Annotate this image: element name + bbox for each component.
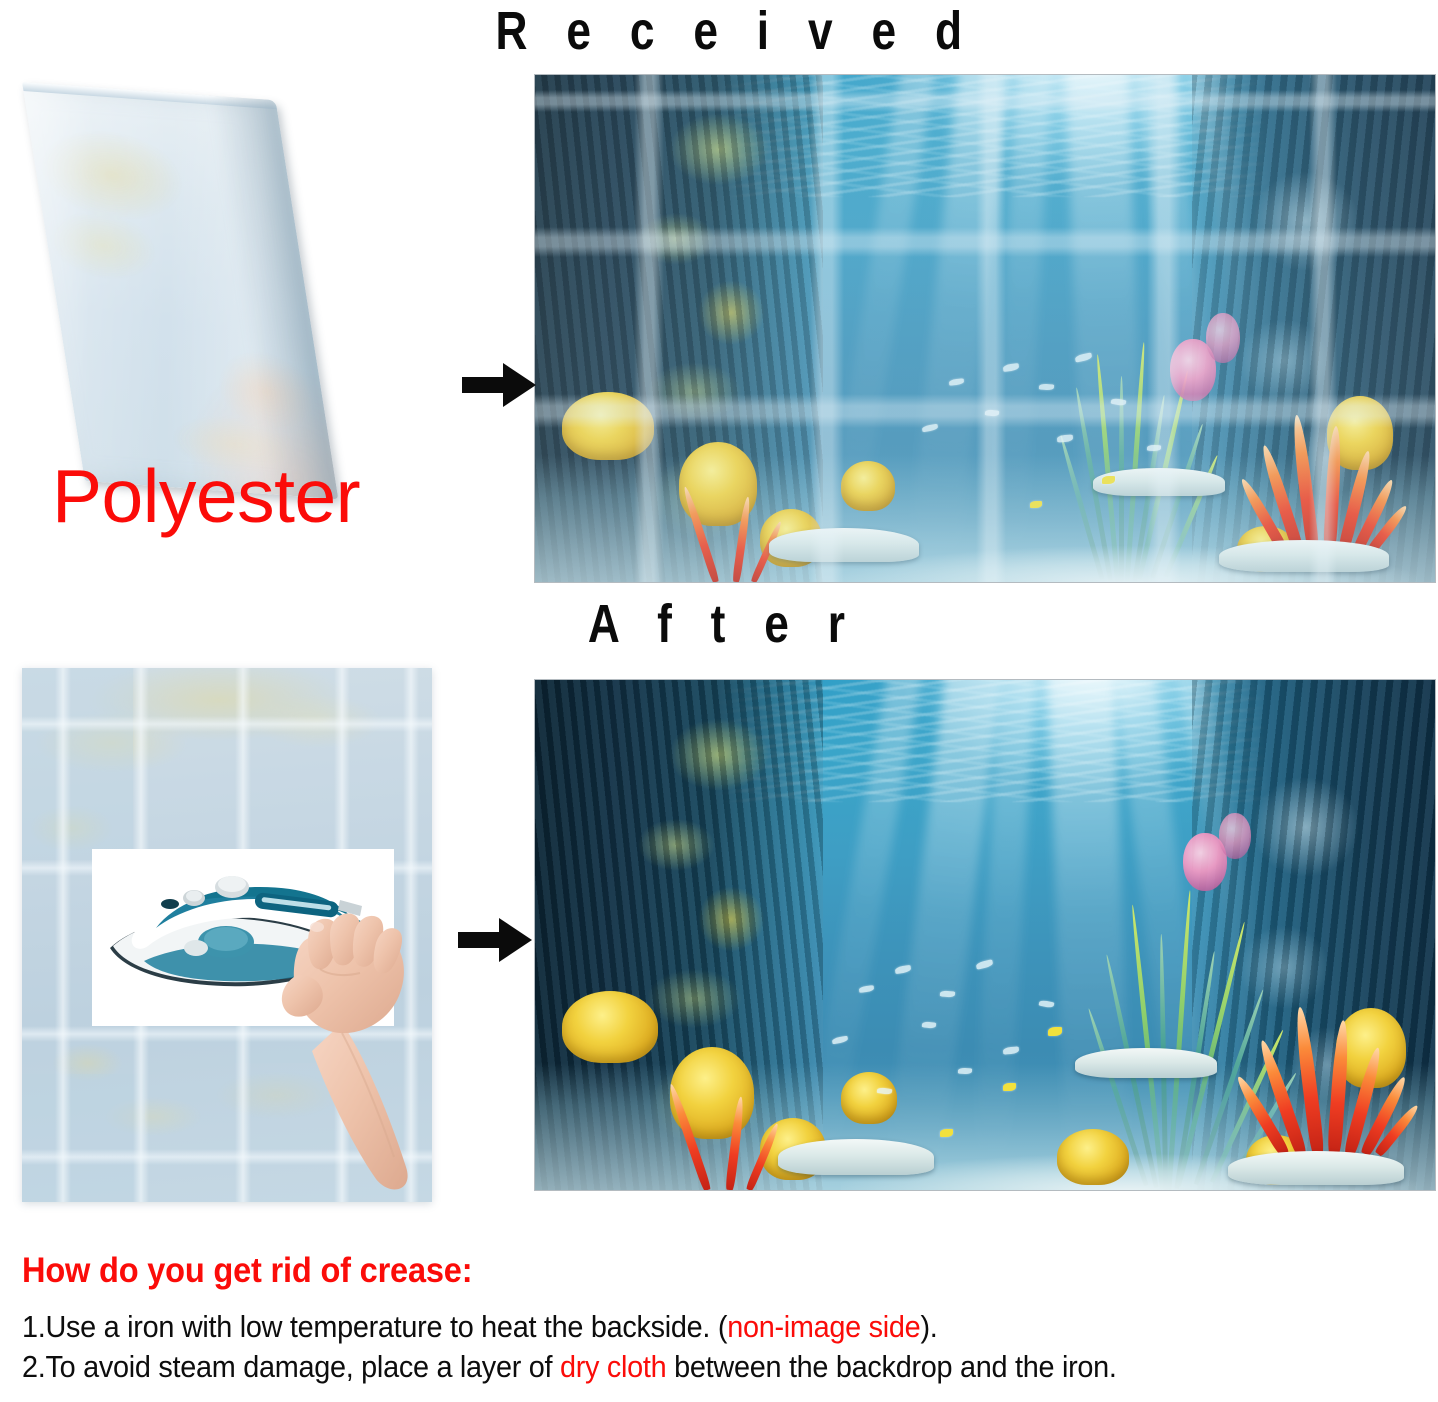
rock-shelf (1075, 1048, 1217, 1078)
red-branching-coral (706, 472, 776, 582)
product-instruction-infographic: R e c e i v e d Polyester (0, 0, 1438, 1402)
fish (922, 1021, 937, 1028)
instruction-1-text-a: 1.Use a iron with low temperature to hea… (22, 1309, 727, 1344)
fish (958, 1067, 972, 1074)
fabric-sheet (22, 82, 338, 499)
fish (985, 409, 1000, 416)
fish-yellow (1102, 476, 1115, 484)
right-arrow-icon (458, 915, 532, 965)
instruction-1-text-b: ). (920, 1309, 937, 1344)
yellow-coral-bush (562, 392, 654, 460)
polyester-label: Polyester (52, 459, 360, 534)
yellow-coral-bush (562, 991, 658, 1063)
rock-shelf (1219, 540, 1389, 572)
yellow-coral-bush (1057, 1129, 1129, 1185)
pink-coral (1219, 813, 1251, 859)
fish-yellow (1003, 1083, 1016, 1091)
section-title-after: A f t e r (129, 597, 1308, 651)
folded-fabric-image (8, 82, 438, 502)
red-branching-coral (697, 1070, 773, 1190)
yellow-coral-bush (841, 461, 895, 511)
instruction-2-text-a: 2.To avoid steam damage, place a layer o… (22, 1349, 560, 1384)
red-branching-coral (1273, 1004, 1389, 1154)
fish-yellow (940, 1129, 953, 1137)
rock-shelf (1228, 1151, 1404, 1185)
instruction-1-highlight: non-image side (727, 1309, 920, 1344)
instruction-line-1: 1.Use a iron with low temperature to hea… (22, 1307, 1324, 1347)
fish-yellow (1048, 1027, 1062, 1036)
rock-shelf (769, 528, 919, 562)
fish-yellow (1030, 501, 1042, 508)
hand-icon (268, 905, 448, 1195)
backdrop-image-after (535, 680, 1435, 1190)
right-arrow-icon (462, 360, 536, 410)
instruction-2-highlight: dry cloth (560, 1349, 666, 1384)
pink-coral (1206, 313, 1240, 363)
section-title-received: R e c e i v e d (129, 4, 1308, 58)
instructions-block: How do you get rid of crease: 1.Use a ir… (22, 1251, 1422, 1388)
yellow-coral-bush (841, 1072, 897, 1124)
rock-shelf (778, 1139, 934, 1175)
instruction-line-2: 2.To avoid steam damage, place a layer o… (22, 1347, 1324, 1387)
backdrop-image-received (535, 75, 1435, 582)
red-branching-coral (1273, 412, 1383, 552)
instructions-heading: How do you get rid of crease: (22, 1251, 1324, 1290)
instruction-2-text-b: between the backdrop and the iron. (666, 1349, 1116, 1384)
